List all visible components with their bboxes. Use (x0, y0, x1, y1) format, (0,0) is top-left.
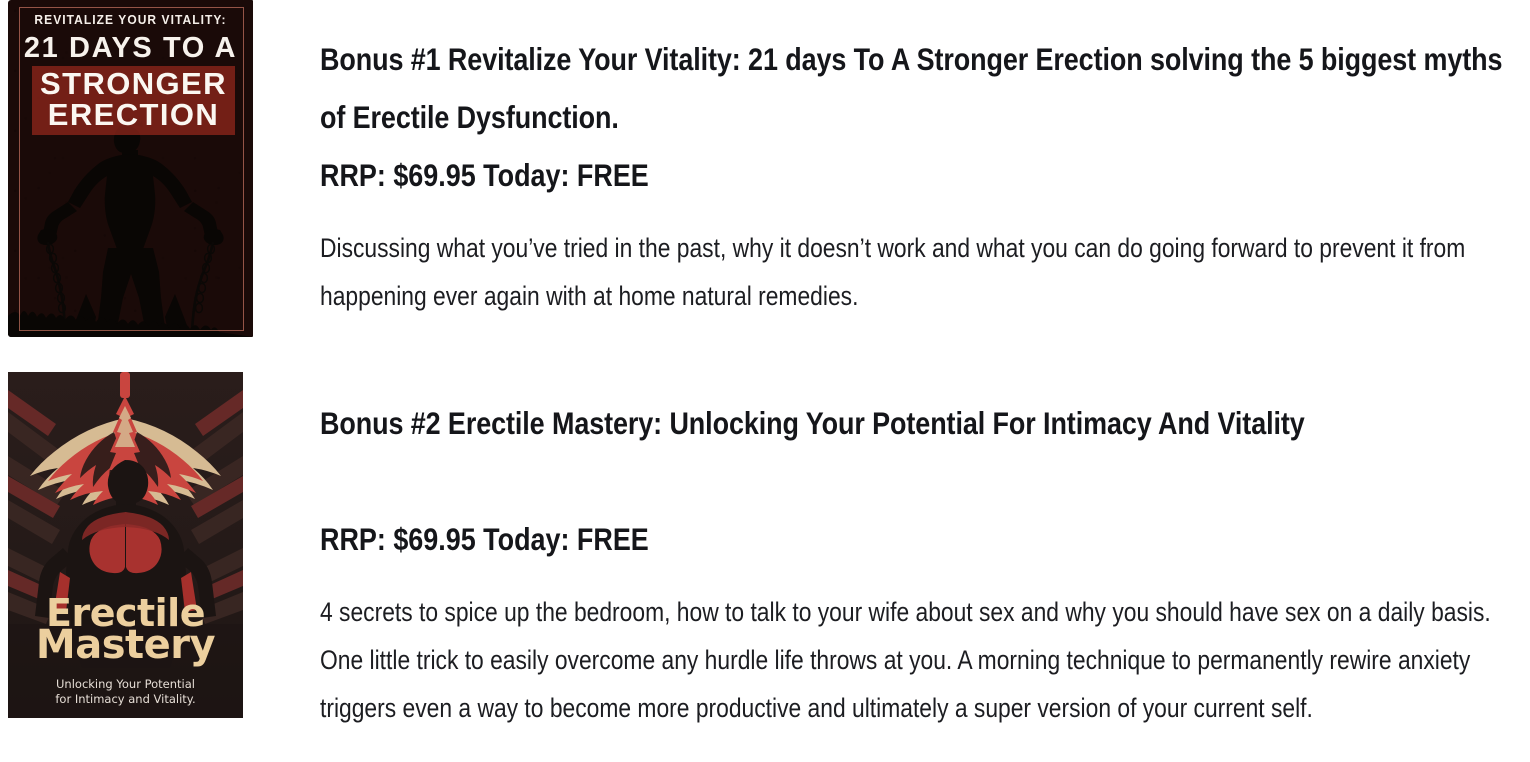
cover-band-line-2: ERECTION (32, 99, 235, 130)
bonus-price-line: RRP: $69.95 Today: FREE (320, 146, 1519, 204)
book-cover-image-bonus-2: Erectile Mastery Unlocking Your Potentia… (8, 372, 243, 718)
cover-subtitle-line-2: for Intimacy and Vitality. (8, 692, 243, 707)
bonus-price-line: RRP: $69.95 Today: FREE (320, 510, 1519, 568)
bonus-1-cover-slot: REVITALIZE YOUR VITALITY: 21 DAYS TO A S… (8, 0, 253, 337)
bonus-2-cover-slot: Erectile Mastery Unlocking Your Potentia… (8, 372, 243, 718)
cover-subtitle: Unlocking Your Potential for Intimacy an… (8, 677, 243, 707)
cover-kicker-text: REVITALIZE YOUR VITALITY: (13, 13, 248, 27)
bonus-offers-page: REVITALIZE YOUR VITALITY: 21 DAYS TO A S… (0, 0, 1530, 762)
bonus-description: 4 secrets to spice up the bedroom, how t… (320, 588, 1520, 732)
cover-band-line-1: STRONGER (32, 68, 235, 99)
cover-title-bonus-2: Erectile Mastery (8, 596, 243, 662)
bonus-description: Discussing what you’ve tried in the past… (320, 224, 1520, 320)
cover-title-line-2: Mastery (8, 628, 243, 662)
chained-man-silhouette-icon (8, 118, 253, 337)
bonus-heading: Bonus #2 Erectile Mastery: Unlocking You… (320, 394, 1519, 452)
cover-title-line-2: 21 DAYS TO A (8, 32, 253, 65)
bonus-heading: Bonus #1 Revitalize Your Vitality: 21 da… (320, 30, 1519, 146)
book-cover-image-bonus-1: REVITALIZE YOUR VITALITY: 21 DAYS TO A S… (8, 0, 253, 337)
cover-subtitle-line-1: Unlocking Your Potential (8, 677, 243, 692)
cover-title-band: STRONGER ERECTION (32, 66, 235, 135)
